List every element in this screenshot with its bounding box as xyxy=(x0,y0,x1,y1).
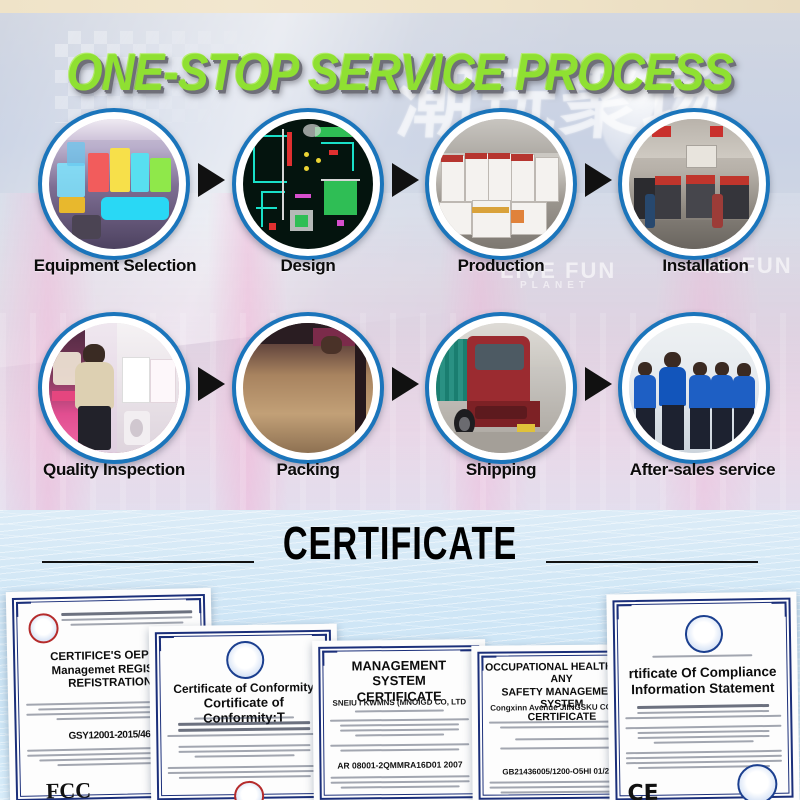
certificate-stamp-5 xyxy=(737,764,778,800)
process-image-installation xyxy=(629,119,759,249)
process-label-2: Design xyxy=(232,256,384,276)
process-label-5: Quality Inspection xyxy=(0,460,228,480)
process-step-6[interactable] xyxy=(232,312,384,464)
certificate-footer-lines-3 xyxy=(328,775,473,792)
process-step-5[interactable] xyxy=(38,312,190,464)
ce-mark-icon: CE xyxy=(627,781,659,800)
page-title: ONE-STOP SERVICE PROCESS xyxy=(0,46,800,98)
process-arrow-2 xyxy=(392,163,419,197)
process-image-after-sales xyxy=(629,323,759,453)
certificate-company-3: SNEIU I KWMNS (MNOIGD CO, LTD xyxy=(323,697,476,708)
process-label-3: Production xyxy=(425,256,577,276)
process-arrow-5 xyxy=(392,367,419,401)
certificate-corner-ornament xyxy=(159,636,174,651)
certificate-card-2[interactable]: Certificate of Conformity Cortificate of… xyxy=(149,624,339,800)
top-accent-strip xyxy=(0,0,800,13)
process-image-packing xyxy=(243,323,373,453)
certificate-card-5[interactable]: rtificate Of Compliance Information Stat… xyxy=(606,592,799,800)
fcc-mark-icon: FCC xyxy=(46,777,92,800)
process-arrow-3 xyxy=(585,163,612,197)
process-image-shipping xyxy=(436,323,566,453)
certificate-corner-ornament xyxy=(617,604,632,619)
certificate-body-lines-3 xyxy=(327,709,472,755)
process-image-equipment-selection xyxy=(49,119,179,249)
process-label-4: Installation xyxy=(618,256,793,276)
process-step-2[interactable] xyxy=(232,108,384,260)
certificate-title-5: rtificate Of Compliance Information Stat… xyxy=(619,664,785,698)
certificate-heading: CERTIFICATE xyxy=(56,519,744,571)
process-image-production xyxy=(436,119,566,249)
certificate-corner-ornament xyxy=(16,602,31,617)
process-step-1[interactable] xyxy=(38,108,190,260)
process-arrow-1 xyxy=(198,163,225,197)
page-root: 潮玩聚场 LIVE FUN PLANET VE FUN PLAY PLANET … xyxy=(0,0,800,800)
certificate-body-lines-2 xyxy=(164,716,325,782)
process-step-3[interactable] xyxy=(425,108,577,260)
background-brand-text-2: PLANET xyxy=(520,280,590,291)
process-label-7: Shipping xyxy=(425,460,577,480)
process-label-8: After-sales service xyxy=(605,460,800,480)
certificate-body-lines-5 xyxy=(622,704,785,773)
process-arrow-4 xyxy=(198,367,225,401)
process-step-4[interactable] xyxy=(618,108,770,260)
process-label-1: Equipment Selection xyxy=(0,256,230,276)
process-image-design xyxy=(243,119,373,249)
process-image-quality-inspection xyxy=(49,323,179,453)
certificate-card-3[interactable]: MANAGEMENT SYSTEM CERTIFICATE SNEIU I KW… xyxy=(312,639,487,800)
certificate-standard-3: AR 08001-2QMMRA16D01 2007 xyxy=(321,759,478,771)
process-label-6: Packing xyxy=(232,460,384,480)
process-arrow-6 xyxy=(585,367,612,401)
process-step-8[interactable] xyxy=(618,312,770,464)
certificate-corner-ornament xyxy=(771,602,786,617)
process-step-7[interactable] xyxy=(425,312,577,464)
